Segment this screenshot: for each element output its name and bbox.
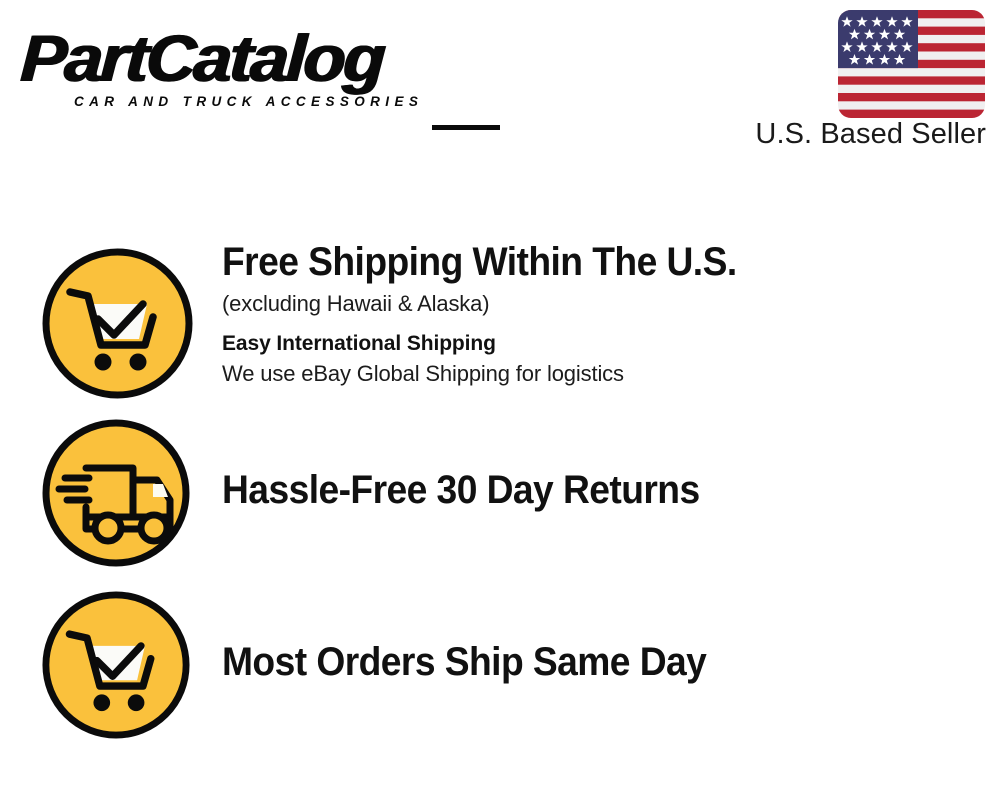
feature-free-shipping-headline: Free Shipping Within The U.S. [222, 240, 929, 284]
us-based-seller-label: U.S. Based Seller [755, 118, 986, 151]
feature-international-shipping-detail: We use eBay Global Shipping for logistic… [222, 359, 982, 389]
us-flag-icon [838, 10, 985, 118]
feature-free-shipping-text: Free Shipping Within The U.S. (excluding… [222, 240, 982, 389]
feature-returns-text: Hassle-Free 30 Day Returns [222, 468, 982, 512]
feature-free-shipping-note: (excluding Hawaii & Alaska) [222, 289, 982, 319]
logo-tagline: CAR AND TRUCK ACCESSORIES [74, 94, 492, 109]
logo-wordmark: PartCatalog [18, 24, 511, 92]
logo-underline-rule [432, 125, 500, 130]
feature-international-shipping-title: Easy International Shipping [222, 328, 982, 359]
delivery-truck-icon [41, 418, 191, 568]
shopping-cart-check-icon [41, 590, 191, 740]
brand-logo[interactable]: PartCatalog CAR AND TRUCK ACCESSORIES [22, 24, 492, 120]
feature-returns-headline: Hassle-Free 30 Day Returns [222, 468, 929, 512]
feature-same-day-text: Most Orders Ship Same Day [222, 640, 982, 684]
feature-same-day-headline: Most Orders Ship Same Day [222, 640, 929, 684]
shopping-cart-check-icon [41, 247, 194, 400]
